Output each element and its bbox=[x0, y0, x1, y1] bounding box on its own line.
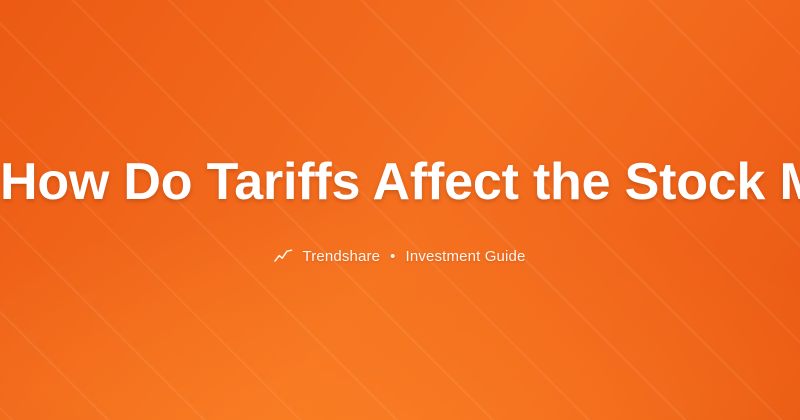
subtitle-separator: • bbox=[389, 248, 396, 265]
banner-subtitle: Trendshare • Investment Guide bbox=[274, 248, 525, 265]
section-label: Investment Guide bbox=[406, 248, 526, 265]
page-title: How Do Tariffs Affect the Stock Market? bbox=[0, 155, 800, 210]
hero-banner: How Do Tariffs Affect the Stock Market? … bbox=[0, 0, 800, 420]
trending-up-chart-icon bbox=[274, 249, 293, 263]
banner-content: How Do Tariffs Affect the Stock Market? … bbox=[0, 0, 800, 420]
brand-label: Trendshare bbox=[302, 248, 380, 265]
